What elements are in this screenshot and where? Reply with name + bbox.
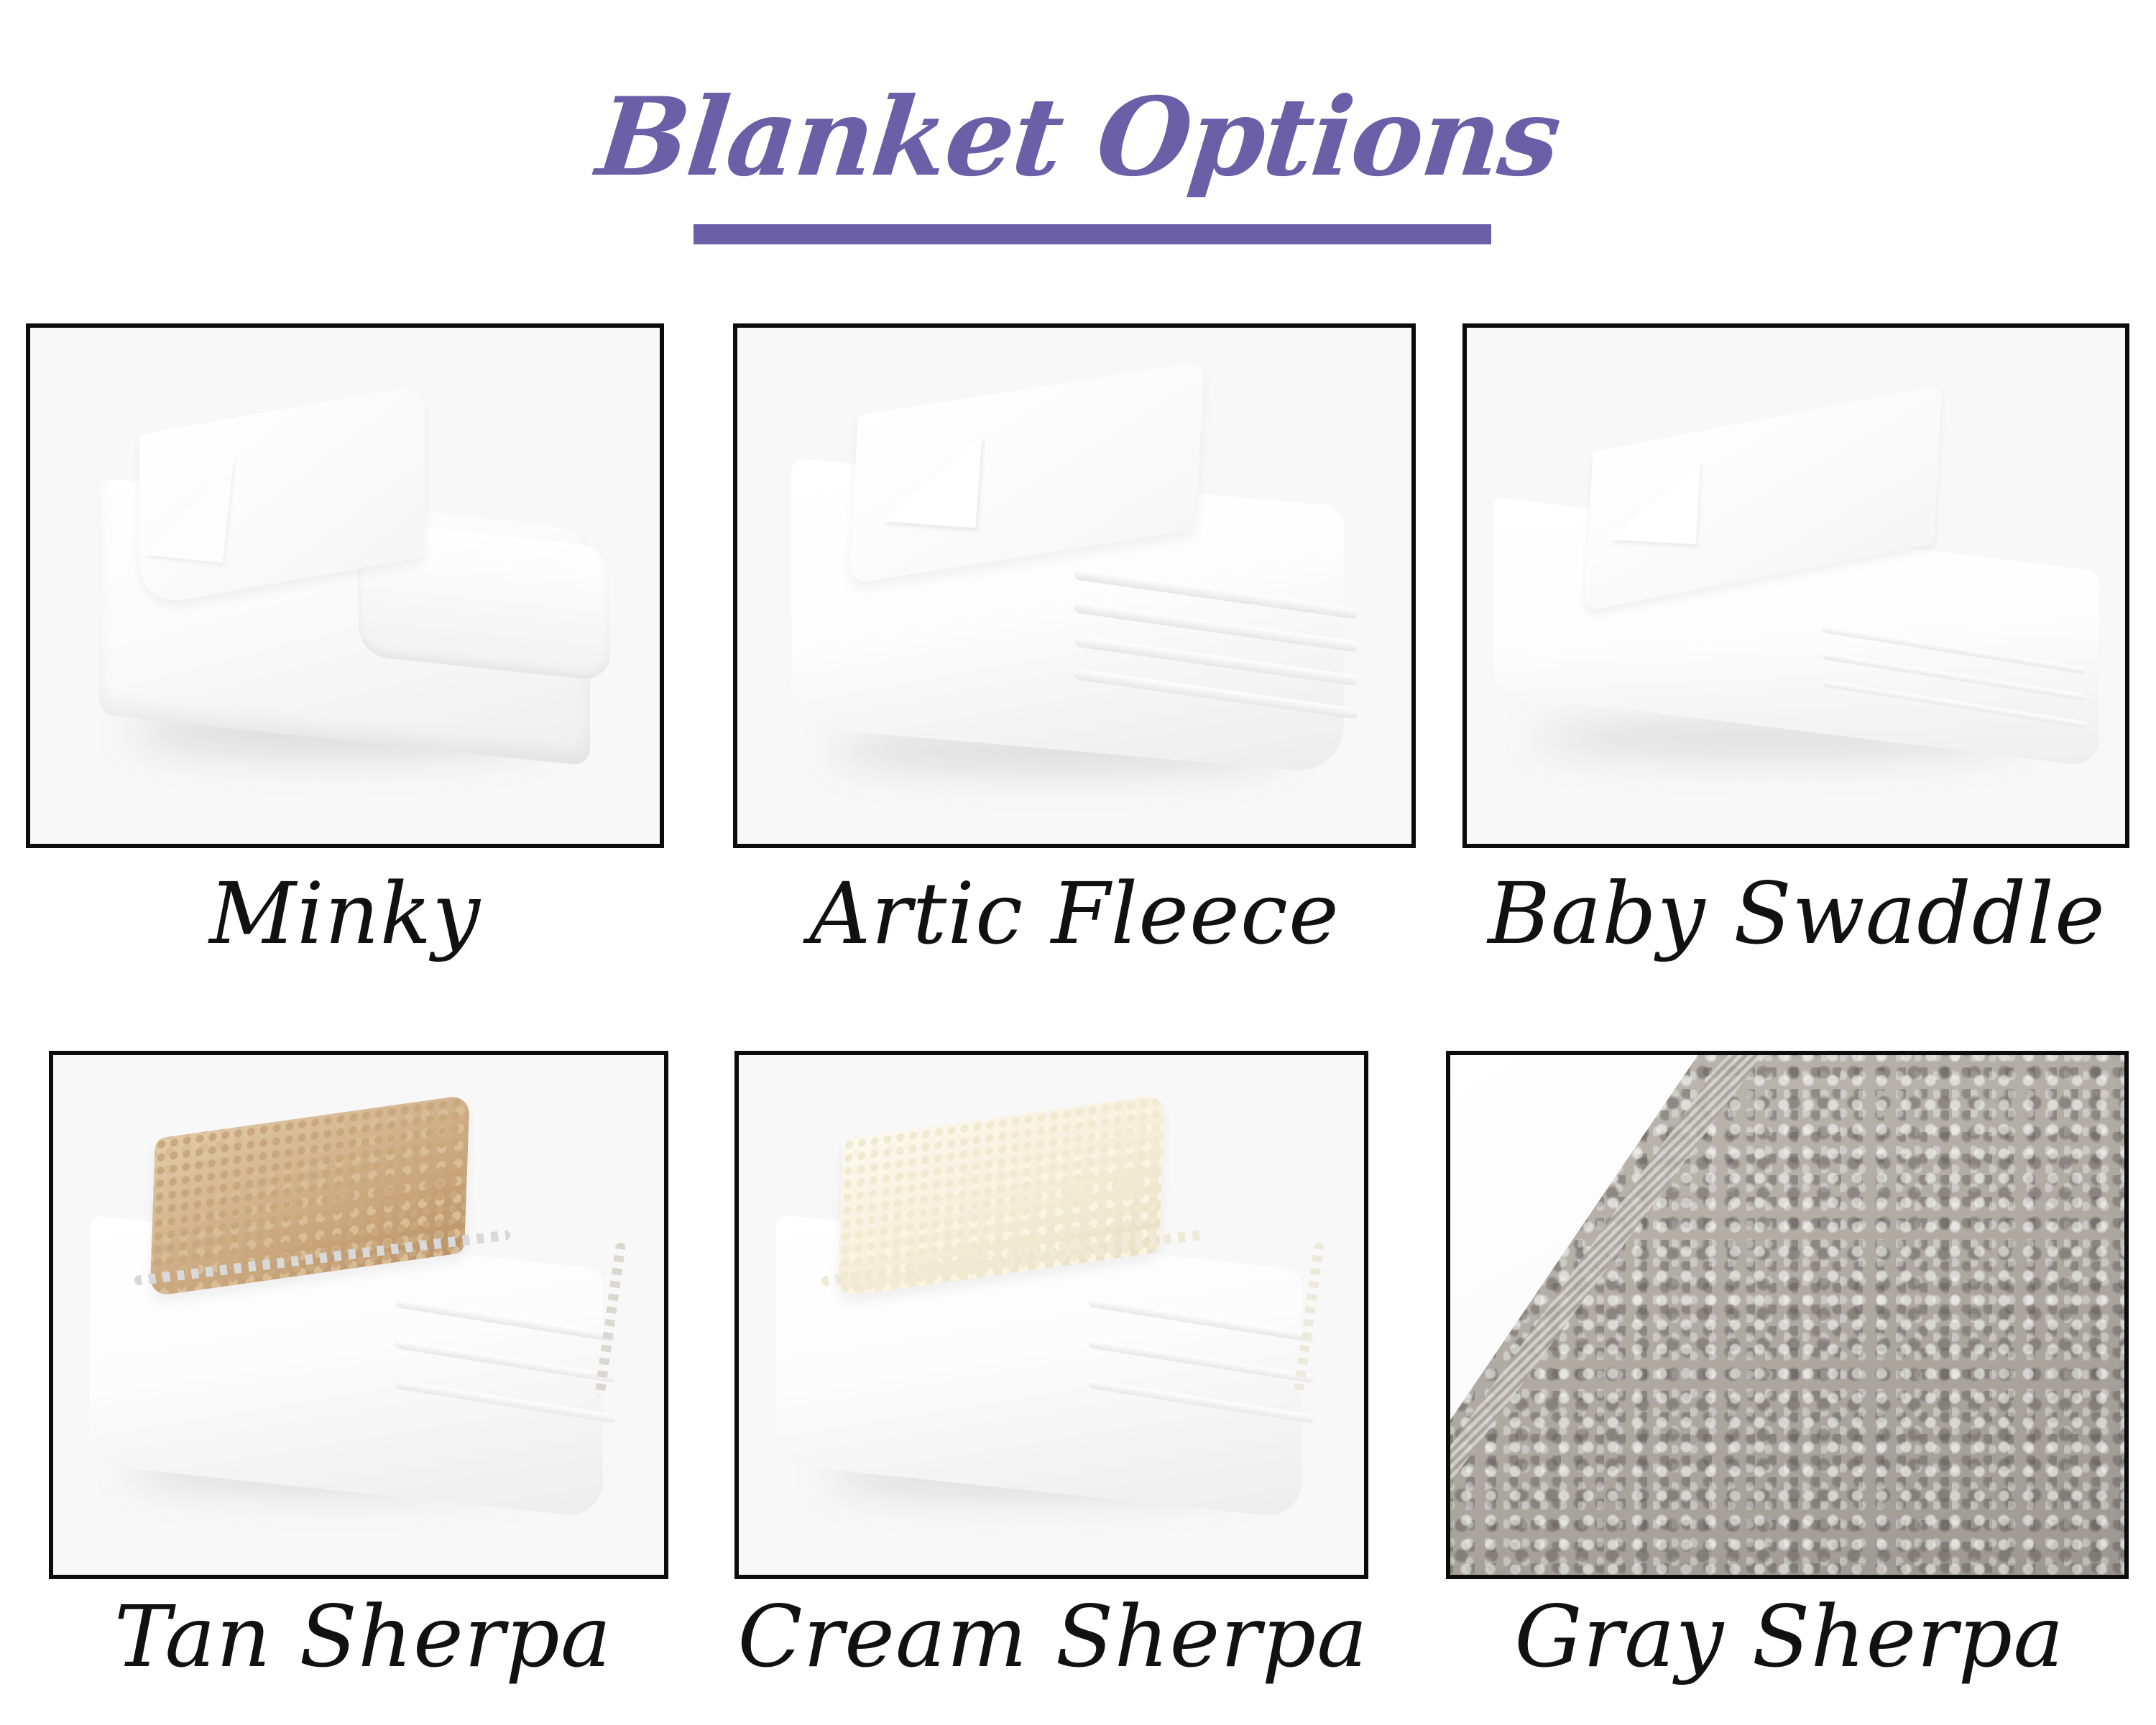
blanket-option-gray-sherpa[interactable] [1446,1051,2129,1579]
tan-sherpa-thumbnail[interactable] [49,1051,668,1579]
cream-sherpa-blanket-image [739,1055,1364,1575]
minky-thumbnail[interactable] [26,323,664,848]
cream-sherpa-thumbnail[interactable] [734,1051,1368,1579]
gray-sherpa-thumbnail[interactable] [1446,1051,2129,1579]
blanket-option-baby-swaddle[interactable] [1462,323,2129,848]
blanket-option-tan-sherpa[interactable] [49,1051,668,1579]
artic-fleece-thumbnail[interactable] [733,323,1416,848]
blanket-options-grid: Minky Artic Fleece [0,0,2156,1725]
blanket-option-label-artic-fleece: Artic Fleece [809,871,1340,956]
blanket-option-artic-fleece[interactable] [733,323,1416,848]
tan-sherpa-blanket-image [53,1055,664,1575]
blanket-option-cream-sherpa[interactable] [734,1051,1368,1579]
blanket-option-label-minky: Minky [209,871,481,956]
baby-swaddle-blanket-image [1467,328,2125,844]
gray-sherpa-blanket-image [1450,1055,2124,1575]
blanket-option-label-baby-swaddle: Baby Swaddle [1488,871,2106,956]
blanket-options-page: Blanket Options Minky [0,0,2156,1725]
blanket-option-label-cream-sherpa: Cream Sherpa [737,1594,1368,1679]
blanket-option-minky[interactable] [26,323,664,848]
blanket-option-label-gray-sherpa: Gray Sherpa [1514,1594,2064,1679]
baby-swaddle-thumbnail[interactable] [1462,323,2129,848]
artic-fleece-blanket-image [737,328,1411,844]
blanket-option-label-tan-sherpa: Tan Sherpa [114,1594,612,1679]
minky-blanket-image [30,328,660,844]
